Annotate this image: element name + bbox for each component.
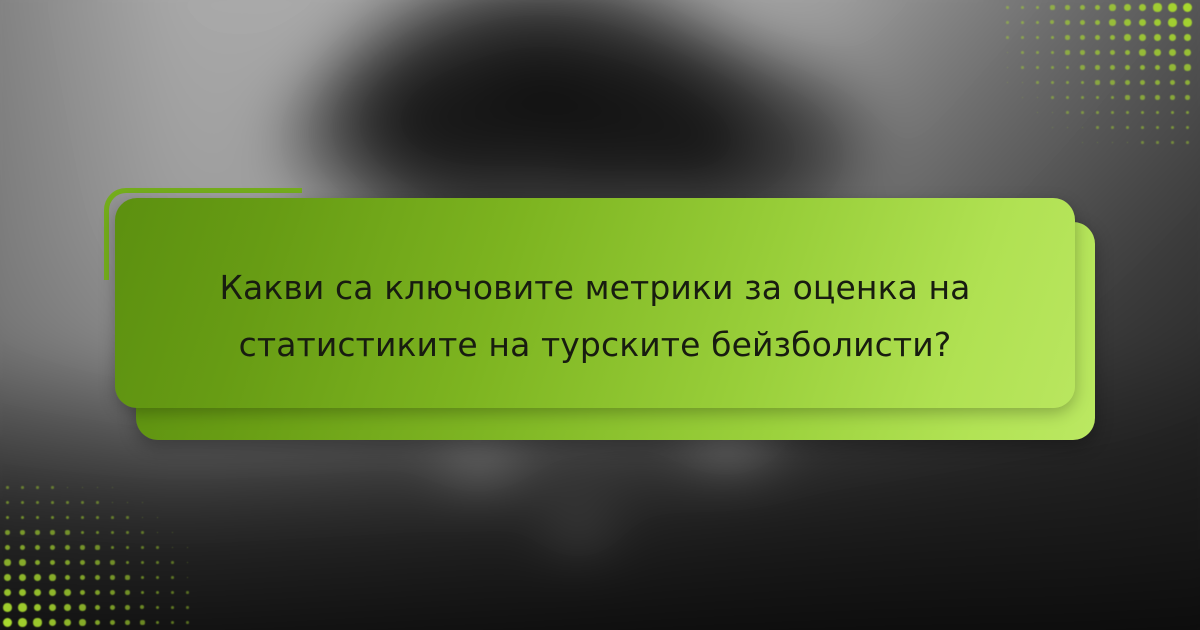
question-card-text: Какви са ключовите метрики за оценка на … xyxy=(115,222,1075,412)
question-line-1: Какви са ключовите метрики за оценка на xyxy=(219,260,970,317)
question-line-2: статистиките на турските бейзболисти? xyxy=(239,317,952,374)
social-card-canvas: Какви са ключовите метрики за оценка на … xyxy=(0,0,1200,630)
